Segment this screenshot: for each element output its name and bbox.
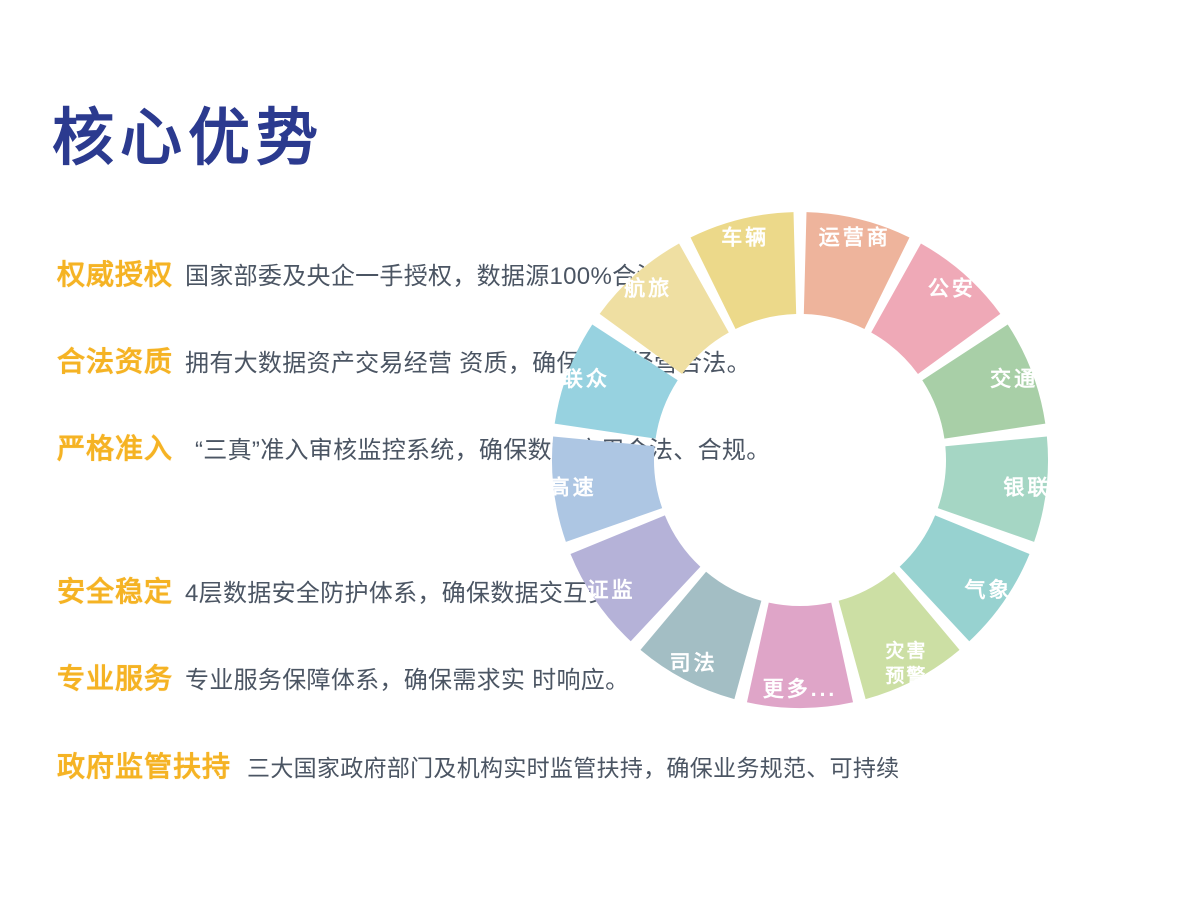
bullet-key: 严格准入: [57, 427, 173, 467]
segment-label: 气象: [963, 578, 1012, 602]
data-sources-donut-chart: 运营商公安交通银联气象灾害预警更多...司法证监高速联众航旅车辆: [540, 108, 1060, 818]
bullet-key: 专业服务: [57, 657, 173, 697]
segment-label: 车辆: [721, 225, 769, 249]
bullet-key: 权威授权: [57, 253, 173, 293]
segment-label: 高速: [549, 475, 597, 499]
segment-label: 司法: [670, 650, 718, 674]
donut-svg: 运营商公安交通银联气象灾害预警更多...司法证监高速联众航旅车辆: [540, 108, 1060, 818]
segment-label: 公安: [928, 276, 976, 300]
slide-root: 核心优势 权威授权 国家部委及央企一手授权，数据源100%合法。 合法资质 拥有…: [0, 0, 1200, 900]
segment-label: 航旅: [624, 276, 672, 300]
bullet-key: 政府监管扶持: [57, 745, 231, 785]
segment-label: 证监: [588, 578, 636, 602]
segment-label: 银联: [1003, 476, 1051, 499]
bullet-key: 合法资质: [57, 340, 173, 380]
segment-label: 更多...: [763, 677, 838, 701]
bullet-key: 安全稳定: [57, 570, 173, 610]
segment-label: 交通: [990, 366, 1038, 390]
segment-label: 联众: [562, 367, 610, 390]
segment-label: 运营商: [819, 225, 891, 249]
